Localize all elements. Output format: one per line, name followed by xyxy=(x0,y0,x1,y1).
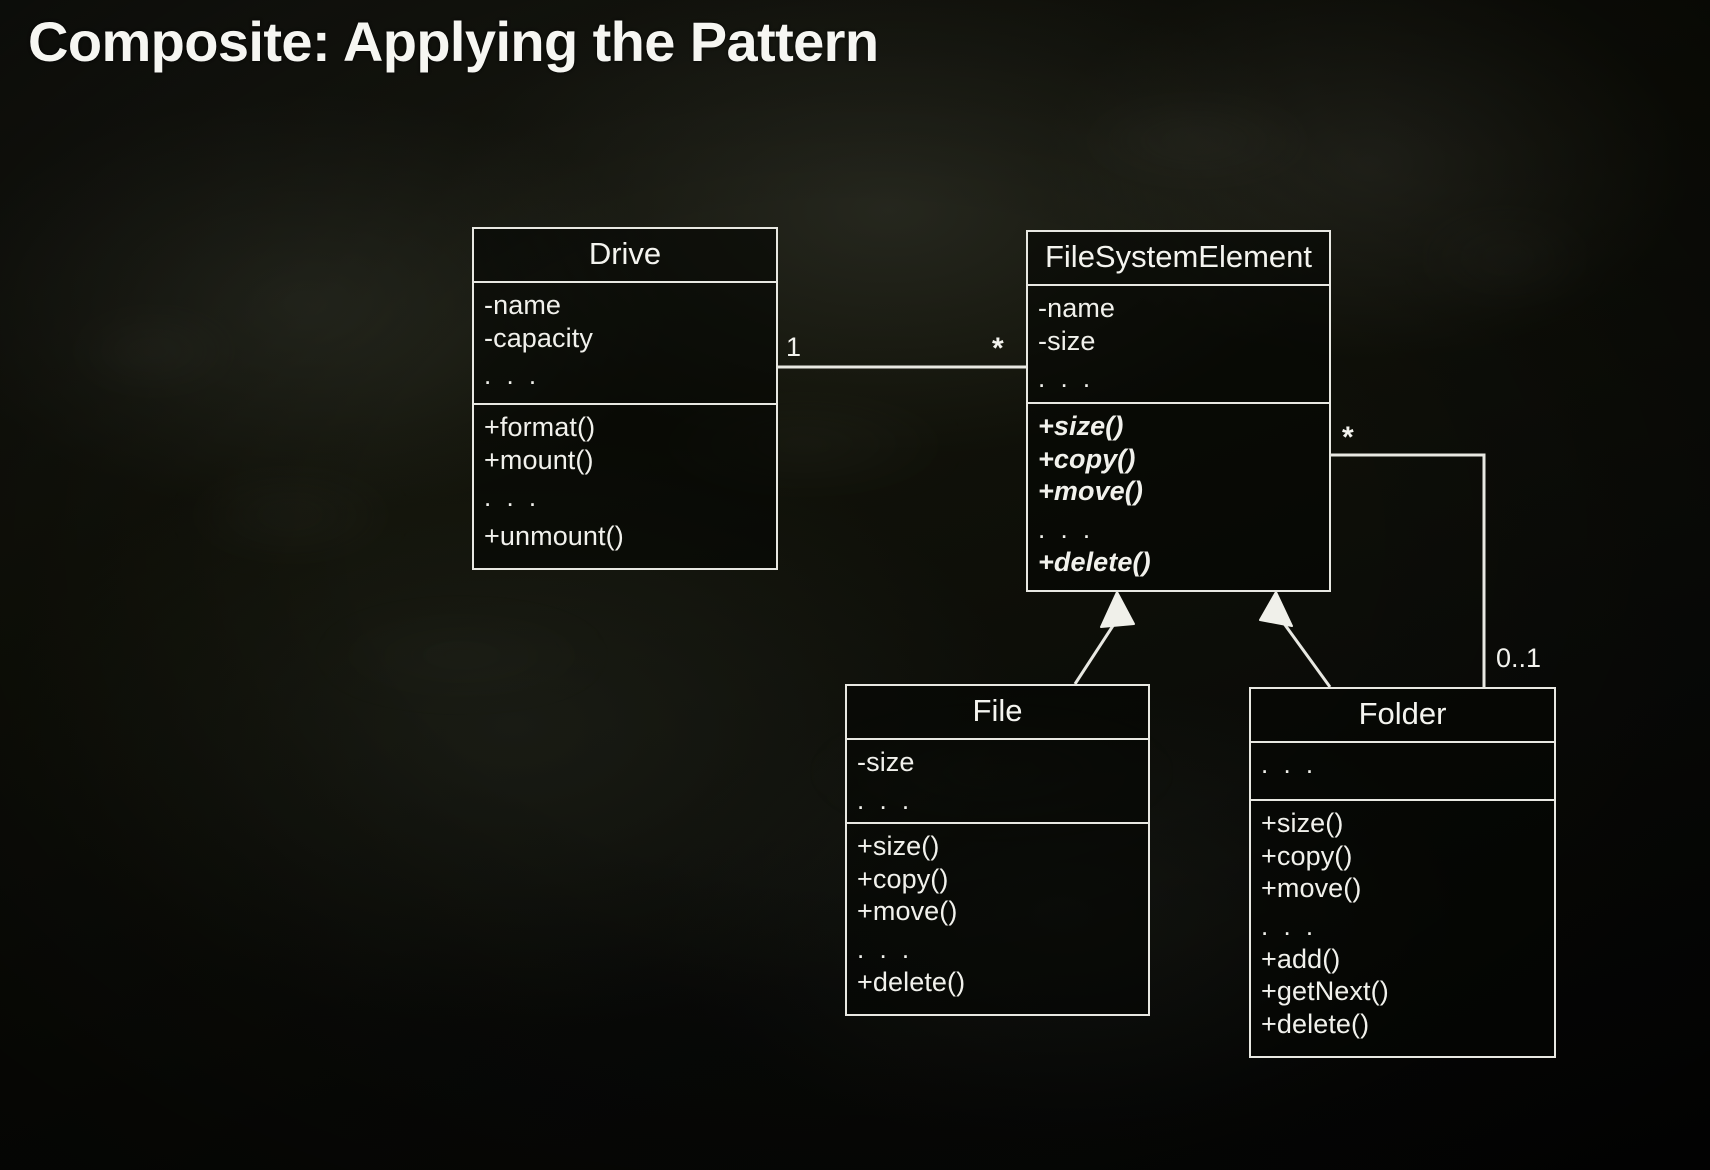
slide-canvas: Composite: Applying the Pattern 1 * * 0.… xyxy=(0,0,1710,1170)
uml-operations-file: +size() +copy() +move() . . . +delete() xyxy=(847,824,1148,1006)
uml-operation: +delete() xyxy=(1038,546,1329,579)
uml-class-name-folder: Folder xyxy=(1251,689,1554,743)
uml-operation: +size() xyxy=(857,830,1148,863)
uml-operation: +move() xyxy=(1038,475,1329,508)
uml-class-file[interactable]: File -size . . . +size() +copy() +move()… xyxy=(845,684,1150,1016)
uml-attributes-filesystemelement: -name -size . . . xyxy=(1028,286,1329,404)
uml-operation: +copy() xyxy=(1038,443,1329,476)
uml-class-diagram: 1 * * 0..1 Drive -name -capacity . . . +… xyxy=(0,0,1710,1170)
uml-operations-folder: +size() +copy() +move() . . . +add() +ge… xyxy=(1251,801,1554,1048)
uml-class-folder[interactable]: Folder . . . +size() +copy() +move() . .… xyxy=(1249,687,1556,1058)
uml-class-drive[interactable]: Drive -name -capacity . . . +format() +m… xyxy=(472,227,778,570)
uml-operation: +size() xyxy=(1261,807,1554,840)
uml-operation: +delete() xyxy=(857,966,1148,999)
uml-operation: +move() xyxy=(857,895,1148,928)
generalization-arrowhead-file xyxy=(1101,592,1134,627)
uml-class-name-file: File xyxy=(847,686,1148,740)
generalization-arrowhead-folder xyxy=(1260,592,1292,626)
uml-attribute-ellipsis: . . . xyxy=(1261,749,1554,780)
uml-operation: +getNext() xyxy=(1261,975,1554,1008)
uml-attribute: -size xyxy=(857,746,1148,779)
uml-attribute-ellipsis: . . . xyxy=(857,785,1148,816)
uml-operation: +copy() xyxy=(857,863,1148,896)
uml-attributes-drive: -name -capacity . . . xyxy=(474,283,776,405)
uml-attributes-file: -size . . . xyxy=(847,740,1148,824)
uml-class-filesystemelement[interactable]: FileSystemElement -name -size . . . +siz… xyxy=(1026,230,1331,592)
uml-class-name-drive: Drive xyxy=(474,229,776,283)
uml-attribute: -capacity xyxy=(484,322,776,355)
uml-operations-drive: +format() +mount() . . . +unmount() xyxy=(474,405,776,560)
association-filesystemelement-folder xyxy=(1331,455,1484,687)
uml-operations-filesystemelement: +size() +copy() +move() . . . +delete() xyxy=(1028,404,1329,586)
multiplicity-folder-children-many: * xyxy=(1342,423,1354,453)
uml-attribute-ellipsis: . . . xyxy=(1038,363,1329,394)
uml-operation: +unmount() xyxy=(484,520,776,553)
multiplicity-folder-parent-zero-one: 0..1 xyxy=(1496,645,1541,672)
generalization-line-folder xyxy=(1280,618,1330,687)
uml-operation-ellipsis: . . . xyxy=(484,482,776,513)
uml-attributes-folder: . . . xyxy=(1251,743,1554,801)
multiplicity-drive-one: 1 xyxy=(786,334,801,361)
uml-operation-ellipsis: . . . xyxy=(1261,911,1554,942)
uml-operation: +copy() xyxy=(1261,840,1554,873)
uml-operation: +format() xyxy=(484,411,776,444)
uml-operation: +mount() xyxy=(484,444,776,477)
uml-operation: +delete() xyxy=(1261,1008,1554,1041)
uml-operation: +size() xyxy=(1038,410,1329,443)
uml-attribute: -name xyxy=(1038,292,1329,325)
uml-operation: +move() xyxy=(1261,872,1554,905)
multiplicity-filesystemelement-many: * xyxy=(992,334,1004,364)
uml-attribute: -name xyxy=(484,289,776,322)
uml-attribute-ellipsis: . . . xyxy=(484,360,776,391)
uml-operation: +add() xyxy=(1261,943,1554,976)
uml-operation-ellipsis: . . . xyxy=(857,934,1148,965)
uml-class-name-filesystemelement: FileSystemElement xyxy=(1028,232,1329,286)
uml-attribute: -size xyxy=(1038,325,1329,358)
uml-operation-ellipsis: . . . xyxy=(1038,514,1329,545)
